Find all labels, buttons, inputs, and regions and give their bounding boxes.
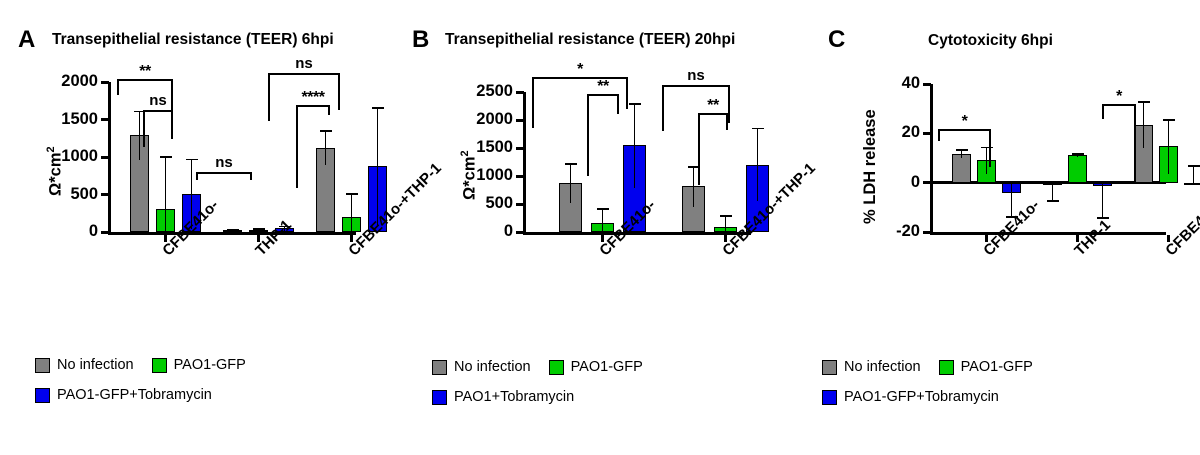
legend-label: No infection	[454, 360, 531, 375]
legend-label: PAO1-GFP	[174, 358, 246, 373]
legend-item-0[interactable]: PAO1+Tobramycin	[432, 390, 574, 405]
panel-b: B Transepithelial resistance (TEER) 20hp…	[400, 0, 800, 455]
panel-c-legend: No infectionPAO1-GFPPAO1-GFP+Tobramycin	[800, 0, 1200, 455]
legend-item-0[interactable]: No infection	[432, 360, 531, 375]
legend-label: No infection	[57, 358, 134, 373]
legend-row: PAO1+Tobramycin	[432, 390, 574, 405]
legend-label: No infection	[844, 360, 921, 375]
legend-label: PAO1-GFP+Tobramycin	[844, 390, 999, 405]
panel-a-legend: No infectionPAO1-GFPPAO1-GFP+Tobramycin	[0, 0, 400, 455]
legend-swatch-no-infection	[432, 360, 447, 375]
legend-item-0[interactable]: No infection	[822, 360, 921, 375]
legend-row: PAO1-GFP+Tobramycin	[35, 388, 212, 403]
legend-swatch-no-infection	[35, 358, 50, 373]
legend-item-0[interactable]: PAO1-GFP+Tobramycin	[822, 390, 999, 405]
legend-item-1[interactable]: PAO1-GFP	[152, 358, 246, 373]
panel-b-legend: No infectionPAO1-GFPPAO1+Tobramycin	[400, 0, 800, 455]
legend-row: No infectionPAO1-GFP	[822, 360, 1033, 375]
legend-swatch-pao1-gfp	[939, 360, 954, 375]
legend-row: No infectionPAO1-GFP	[35, 358, 246, 373]
legend-row: PAO1-GFP+Tobramycin	[822, 390, 999, 405]
legend-item-1[interactable]: PAO1-GFP	[549, 360, 643, 375]
legend-swatch-pao1-tobramycin	[432, 390, 447, 405]
legend-label: PAO1-GFP	[571, 360, 643, 375]
legend-item-0[interactable]: No infection	[35, 358, 134, 373]
legend-label: PAO1+Tobramycin	[454, 390, 574, 405]
legend-label: PAO1-GFP	[961, 360, 1033, 375]
legend-swatch-pao1-gfp	[152, 358, 167, 373]
legend-swatch-pao1-gfp	[549, 360, 564, 375]
legend-item-0[interactable]: PAO1-GFP+Tobramycin	[35, 388, 212, 403]
legend-row: No infectionPAO1-GFP	[432, 360, 643, 375]
legend-swatch-pao1-gfp-tobramycin	[822, 390, 837, 405]
legend-swatch-no-infection	[822, 360, 837, 375]
legend-swatch-pao1-gfp-tobramycin	[35, 388, 50, 403]
panel-a: A Transepithelial resistance (TEER) 6hpi…	[0, 0, 400, 455]
panel-c: C Cytotoxicity 6hpi -2002040% LDH releas…	[800, 0, 1200, 455]
legend-item-1[interactable]: PAO1-GFP	[939, 360, 1033, 375]
legend-label: PAO1-GFP+Tobramycin	[57, 388, 212, 403]
